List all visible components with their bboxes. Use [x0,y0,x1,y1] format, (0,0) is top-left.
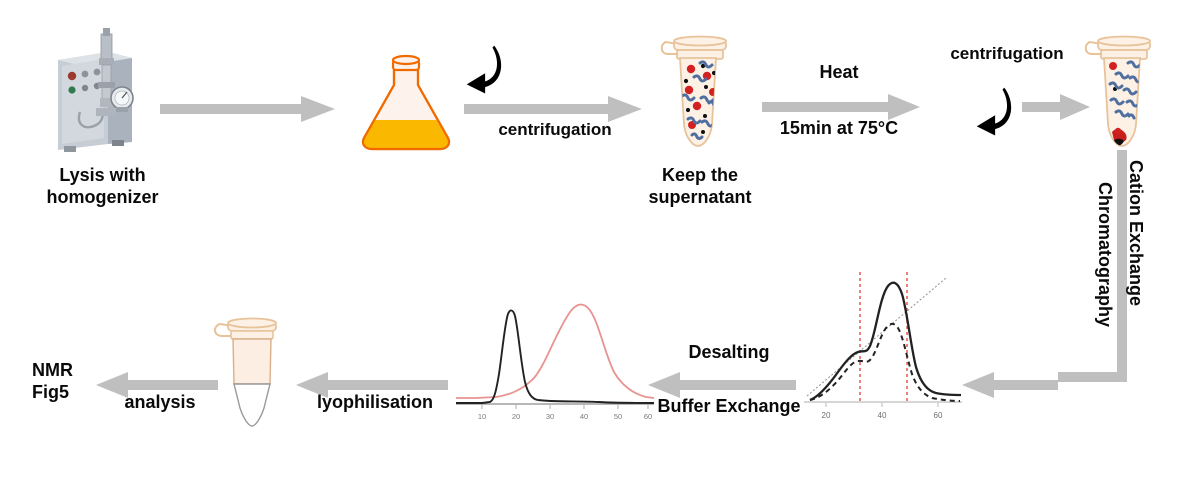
arrow-desalting [648,372,796,398]
heat-label-bottom: 15min at 75°C [748,118,930,140]
arrow-lysis-to-flask [160,96,335,122]
eppendorf-tube-empty-icon [210,312,290,432]
arrow-to-pellet-tube [1022,94,1090,120]
nmr-label-line1: NMR [32,360,122,382]
workflow-diagram: Lysis with homogenizer [0,0,1200,479]
arrow-heat [762,94,920,120]
homogenizer-icon [46,26,154,154]
desalting-label-top: Desalting [654,342,804,364]
heat-label-top: Heat [758,62,920,84]
cation-exchange-label: Cation Exchange [1125,160,1146,306]
nmr-label-line2: Fig5 [32,382,122,404]
centrifugation-2-label: centrifugation [912,44,1102,65]
chromatography-connector-foot [1058,372,1127,382]
arrow-flask-to-tube [464,96,642,122]
lyophilisation-label: lyophilisation [300,392,450,414]
lysis-label: Lysis with homogenizer [20,165,185,209]
svg-text:20: 20 [822,411,831,420]
curved-rotation-arrow-icon-2 [968,86,1024,142]
svg-text:50: 50 [614,412,622,421]
chromatography-label: Chromatography [1094,182,1115,327]
svg-text:30: 30 [546,412,554,421]
desalting-label-bottom: Buffer Exchange [638,396,820,418]
svg-text:60: 60 [644,412,652,421]
lysis-label-line1: Lysis with [20,165,185,187]
centrifugation-1-label: centrifugation [460,120,650,141]
erlenmeyer-flask-icon [356,40,468,152]
supernatant-label-line1: Keep the [620,165,780,187]
desalting-chromatogram: 10 20 30 40 50 60 [448,282,660,434]
svg-text:10: 10 [478,412,486,421]
eppendorf-tube-pellet-icon [1082,32,1162,158]
eppendorf-tube-mixed-icon [656,32,740,158]
curved-rotation-arrow-icon-1 [458,44,514,100]
svg-text:40: 40 [580,412,588,421]
supernatant-label-line2: supernatant [620,187,780,209]
svg-text:60: 60 [934,411,943,420]
svg-text:20: 20 [512,412,520,421]
supernatant-label: Keep the supernatant [620,165,780,209]
nmr-label: NMR Fig5 [32,360,122,404]
svg-text:40: 40 [878,411,887,420]
arrow-chromatography-to-chart1 [962,372,1058,398]
lysis-label-line2: homogenizer [20,187,185,209]
